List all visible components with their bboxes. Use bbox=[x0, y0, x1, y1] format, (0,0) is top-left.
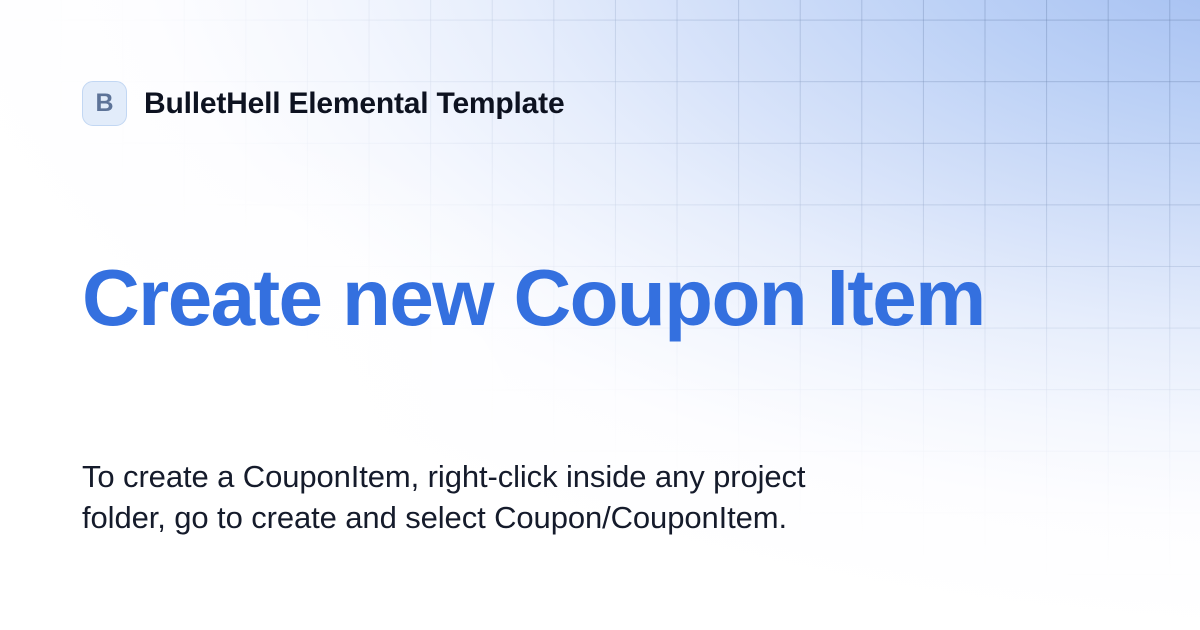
letter-b-logo-icon: B bbox=[82, 81, 127, 126]
page-description: To create a CouponItem, right-click insi… bbox=[82, 456, 842, 538]
brand-row: B BulletHell Elemental Template bbox=[82, 81, 564, 126]
hero-banner: B BulletHell Elemental Template Create n… bbox=[0, 0, 1200, 630]
banner-content: B BulletHell Elemental Template Create n… bbox=[0, 0, 1200, 630]
page-title: Create new Coupon Item bbox=[82, 250, 1012, 346]
brand-name: BulletHell Elemental Template bbox=[144, 87, 564, 121]
